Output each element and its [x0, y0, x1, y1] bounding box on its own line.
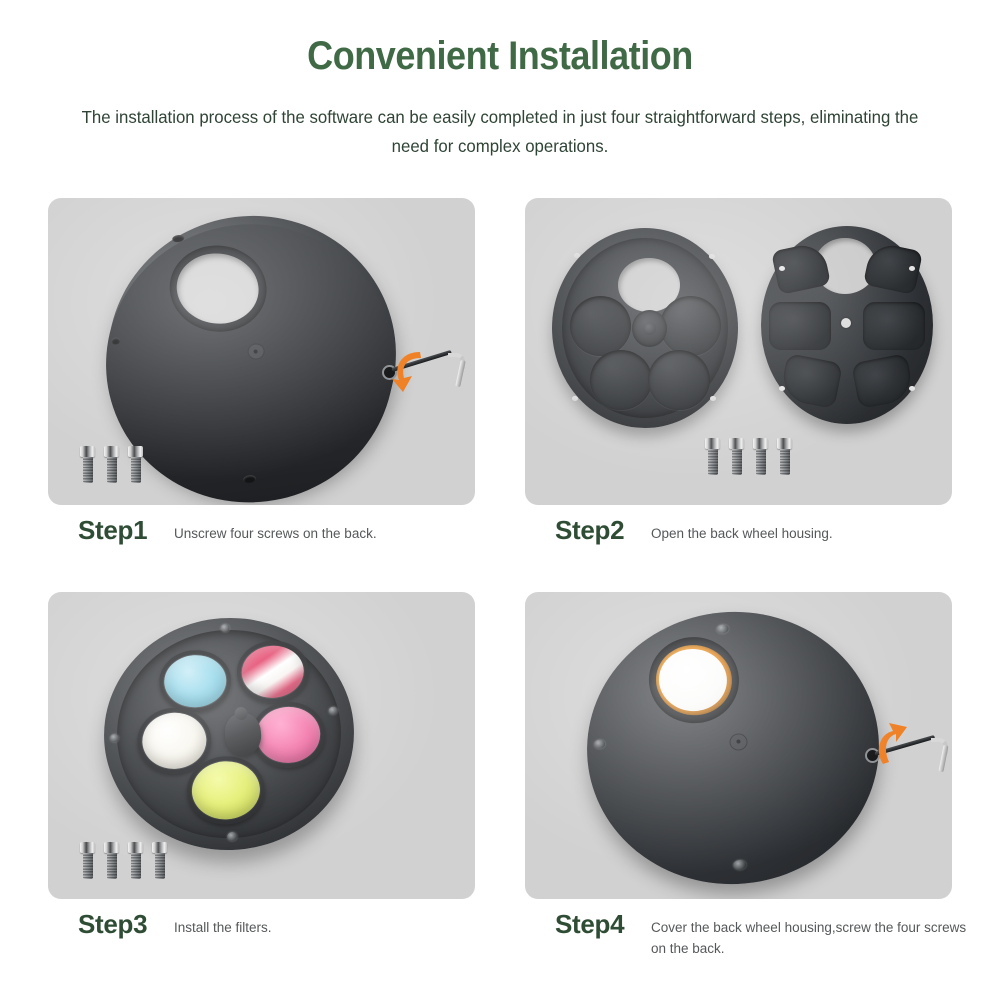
- filter-amber-ring: [653, 642, 735, 718]
- assembled-filter-wheel: [576, 600, 891, 896]
- filter-slot: [590, 350, 652, 410]
- step-2-label: Step2: [555, 516, 651, 544]
- rotation-arrow-screw-in-icon: [869, 718, 913, 766]
- screw: [777, 438, 792, 476]
- red-filter: [235, 638, 311, 705]
- step-card-3: Step3 Install the filters.: [48, 592, 475, 899]
- installation-infographic: Convenient Installation The installation…: [0, 0, 1000, 1000]
- step-2-description: Open the back wheel housing.: [651, 516, 975, 544]
- cover-screw-head: [733, 859, 747, 870]
- screw: [729, 438, 744, 476]
- cover-center-pin: [841, 318, 851, 328]
- step-4-image-panel: [525, 592, 952, 899]
- filter-wheel-with-filters: [96, 610, 362, 859]
- cover-spoke-cell: [851, 353, 915, 409]
- housing-screw-hole: [710, 396, 716, 401]
- cover-screw-hole: [779, 386, 785, 391]
- cover-screw-hole: [909, 266, 915, 271]
- housing-screw-hole: [572, 396, 578, 401]
- step-4-caption: Step4 Cover the back wheel housing,screw…: [555, 910, 975, 959]
- step-3-caption: Step3 Install the filters.: [78, 910, 498, 938]
- step-card-2: Step2 Open the back wheel housing.: [525, 198, 952, 505]
- wheel-housing: [552, 228, 738, 428]
- filter-slot: [570, 296, 631, 356]
- cover-screw-head: [716, 624, 729, 634]
- screw: [152, 842, 167, 880]
- screws-group-step-3: [80, 842, 167, 880]
- cover-spoke-cell: [779, 353, 843, 409]
- step-3-label: Step3: [78, 910, 174, 938]
- rotation-arrow-unscrew-icon: [390, 346, 434, 394]
- cover-spoke-cell: [769, 302, 831, 350]
- screw: [128, 446, 143, 484]
- screw: [80, 446, 95, 484]
- screw: [128, 842, 143, 880]
- screw: [705, 438, 720, 476]
- housing-screw-hole: [709, 254, 715, 259]
- step-2-image-panel: [525, 198, 952, 505]
- page-title: Convenient Installation: [50, 34, 950, 79]
- step-1-label: Step1: [78, 516, 174, 544]
- step-1-description: Unscrew four screws on the back.: [174, 516, 498, 544]
- wheel-screw-head: [227, 832, 238, 842]
- screw: [80, 842, 95, 880]
- screw: [104, 446, 119, 484]
- step-4-label: Step4: [555, 910, 651, 938]
- step-1-caption: Step1 Unscrew four screws on the back.: [78, 516, 498, 544]
- housing-screw-hole: [574, 253, 580, 258]
- cover-spoke-cell: [863, 302, 925, 350]
- port-opening: [173, 249, 263, 328]
- screws-group-step-1: [80, 446, 143, 484]
- wheel-inner: [110, 622, 348, 845]
- screw: [753, 438, 768, 476]
- center-pivot: [729, 733, 748, 752]
- cover-screw-head: [594, 739, 606, 749]
- housing-inner: [562, 238, 728, 418]
- screw: [104, 842, 119, 880]
- back-cover: [761, 226, 933, 424]
- installed-filter-glass: [656, 646, 729, 714]
- cyan-filter: [157, 648, 233, 715]
- step-card-1: Step1 Unscrew four screws on the back.: [48, 198, 475, 505]
- cover-screw-hole: [779, 266, 785, 271]
- housing-hub: [632, 310, 667, 347]
- step-3-description: Install the filters.: [174, 910, 498, 938]
- step-4-description: Cover the back wheel housing,screw the f…: [651, 910, 975, 959]
- screws-group-step-2: [705, 438, 792, 476]
- step-1-image-panel: [48, 198, 475, 505]
- page-subtitle: The installation process of the software…: [68, 103, 932, 161]
- filter-slot: [660, 296, 721, 356]
- telescope-port: [645, 633, 742, 727]
- step-card-4: Step4 Cover the back wheel housing,screw…: [525, 592, 952, 899]
- cover-screw-hole: [909, 386, 915, 391]
- step-2-caption: Step2 Open the back wheel housing.: [555, 516, 975, 544]
- step-3-image-panel: [48, 592, 475, 899]
- filter-slot: [648, 350, 710, 410]
